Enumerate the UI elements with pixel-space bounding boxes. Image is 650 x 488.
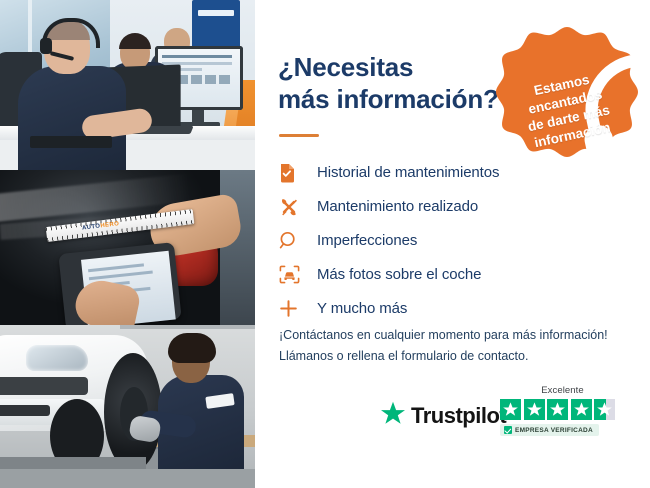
title-underline-divider [279, 134, 319, 137]
call-center-agents-photo [0, 0, 255, 170]
ruler-brand-text-primary: AUTO [82, 223, 101, 231]
magnifier-icon [279, 230, 305, 252]
page-title-line-1: ¿Necesitas [278, 52, 528, 84]
page-title-line-2: más información? [278, 84, 528, 116]
star-filled-2 [524, 399, 545, 420]
star-partial-5 [594, 399, 615, 420]
info-starburst-badge: Estamos encantados de darte más informac… [493, 24, 641, 172]
feature-item-imperfections: Imperfecciones [279, 224, 619, 257]
contact-copy-line-2: Llámanos o rellena el formulario de cont… [279, 346, 639, 367]
plus-icon [279, 298, 305, 320]
info-promo-banner: AUTOHERO [0, 0, 650, 488]
trustpilot-wordmark: Trustpilot [411, 403, 506, 429]
verified-business-badge: EMPRESA VERIFICADA [500, 424, 599, 436]
trustpilot-rating-widget[interactable]: Trustpilot Excelente [380, 385, 630, 447]
keyboard [30, 136, 112, 148]
content-panel: ¿Necesitas más información? Estamos enca… [255, 0, 650, 488]
contact-copy-line-1: ¡Contáctanos en cualquier momento para m… [279, 325, 639, 346]
feature-label: Imperfecciones [317, 232, 417, 249]
feature-label: Mantenimiento realizado [317, 198, 478, 215]
checklist-document-icon [279, 162, 305, 184]
star-filled-3 [547, 399, 568, 420]
star-filled-1 [500, 399, 521, 420]
trustpilot-score-block: Excelente [500, 385, 625, 439]
wall-trim-line [120, 325, 255, 329]
feature-label: Historial de mantenimientos [317, 164, 499, 181]
star-filled-4 [571, 399, 592, 420]
page-title: ¿Necesitas más información? [278, 52, 528, 115]
trustpilot-rating-label: Excelente [500, 385, 625, 396]
verified-check-icon [504, 426, 512, 434]
trustpilot-stars [500, 399, 625, 420]
workshop-floor [0, 469, 255, 488]
wrench-screwdriver-icon [279, 196, 305, 218]
car-inspection-ruler-tablet-photo: AUTOHERO [0, 170, 255, 325]
feature-label: Más fotos sobre el coche [317, 266, 481, 283]
feature-item-more-photos: Más fotos sobre el coche [279, 258, 619, 291]
feature-item-maintenance-history: Historial de mantenimientos [279, 156, 619, 189]
car-scan-icon [279, 264, 305, 286]
ruler-brand-text-secondary: HERO [100, 221, 120, 229]
headset-icon [553, 48, 581, 73]
photo-collage: AUTOHERO [0, 0, 255, 488]
car-lift-arm [0, 457, 146, 469]
car-headlight [26, 345, 88, 371]
technician-hair [168, 333, 216, 363]
feature-item-maintenance-done: Mantenimiento realizado [279, 190, 619, 223]
trustpilot-logo[interactable]: Trustpilot [380, 401, 506, 431]
bumper-air-vent [0, 405, 50, 416]
verified-business-label: EMPRESA VERIFICADA [515, 427, 593, 434]
feature-list: Historial de mantenimientos M [279, 156, 619, 326]
trustpilot-star-icon [380, 401, 406, 431]
car-on-lift-technician-photo [0, 325, 255, 488]
feature-item-much-more: Y mucho más [279, 292, 619, 325]
feature-label: Y mucho más [317, 300, 407, 317]
wall-poster [192, 0, 240, 52]
car-grille [0, 377, 88, 395]
contact-copy: ¡Contáctanos en cualquier momento para m… [279, 325, 639, 366]
